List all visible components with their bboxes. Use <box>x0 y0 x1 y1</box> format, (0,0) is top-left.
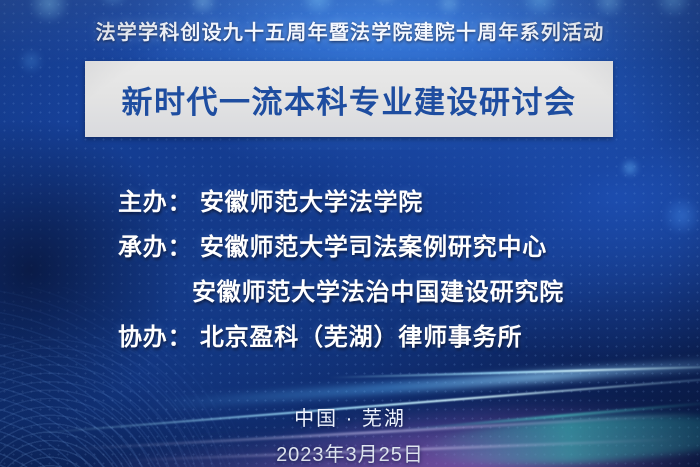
title-banner: 新时代一流本科专业建设研讨会 <box>85 61 613 137</box>
footer-date: 2023年3月25日 <box>0 438 700 467</box>
footer-location: 中国 · 芜湖 <box>0 402 700 431</box>
slide-content: 法学学科创设九十五周年暨法学院建院十周年系列活动 新时代一流本科专业建设研讨会 … <box>0 0 700 467</box>
event-series-kicker: 法学学科创设九十五周年暨法学院建院十周年系列活动 <box>0 16 700 45</box>
organizer-list: 主办： 安徽师范大学法学院 承办： 安徽师范大学司法案例研究中心 安徽师范大学法… <box>118 180 678 360</box>
organizer-line-host: 主办： 安徽师范大学法学院 <box>118 180 678 225</box>
slide-footer: 中国 · 芜湖 2023年3月25日 <box>0 402 700 467</box>
slide-title: 新时代一流本科专业建设研讨会 <box>122 77 577 122</box>
organizer-line-cohost: 协办： 北京盈科（芜湖）律师事务所 <box>118 315 678 360</box>
organizer-line-organizer-second: 安徽师范大学法治中国建设研究院 <box>118 270 678 315</box>
organizer-line-organizer: 承办： 安徽师范大学司法案例研究中心 <box>118 225 678 270</box>
presentation-slide: 法学学科创设九十五周年暨法学院建院十周年系列活动 新时代一流本科专业建设研讨会 … <box>0 0 700 467</box>
